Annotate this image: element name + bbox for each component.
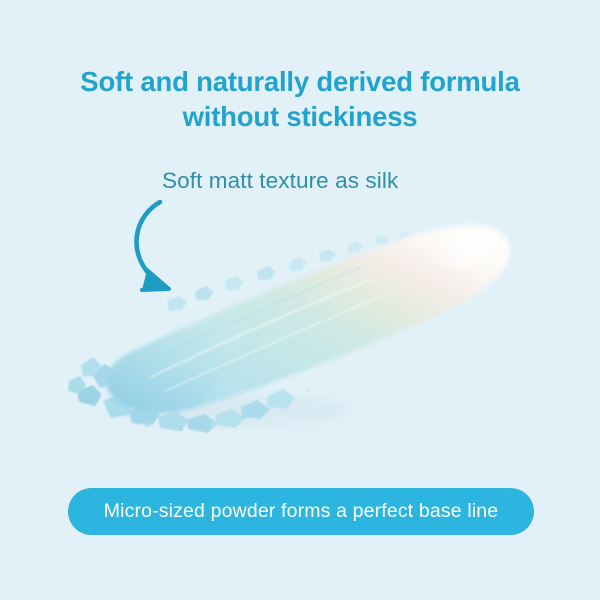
- powder-smear-swatch: [55, 205, 545, 445]
- base-line-banner: Micro-sized powder forms a perfect base …: [68, 488, 534, 535]
- headline-line-1: Soft and naturally derived formula: [0, 64, 600, 99]
- base-line-banner-label: Micro-sized powder forms a perfect base …: [104, 500, 499, 523]
- product-feature-poster: Soft and naturally derived formula witho…: [0, 0, 600, 600]
- headline-line-2: without stickiness: [0, 99, 600, 134]
- page-title: Soft and naturally derived formula witho…: [0, 64, 600, 134]
